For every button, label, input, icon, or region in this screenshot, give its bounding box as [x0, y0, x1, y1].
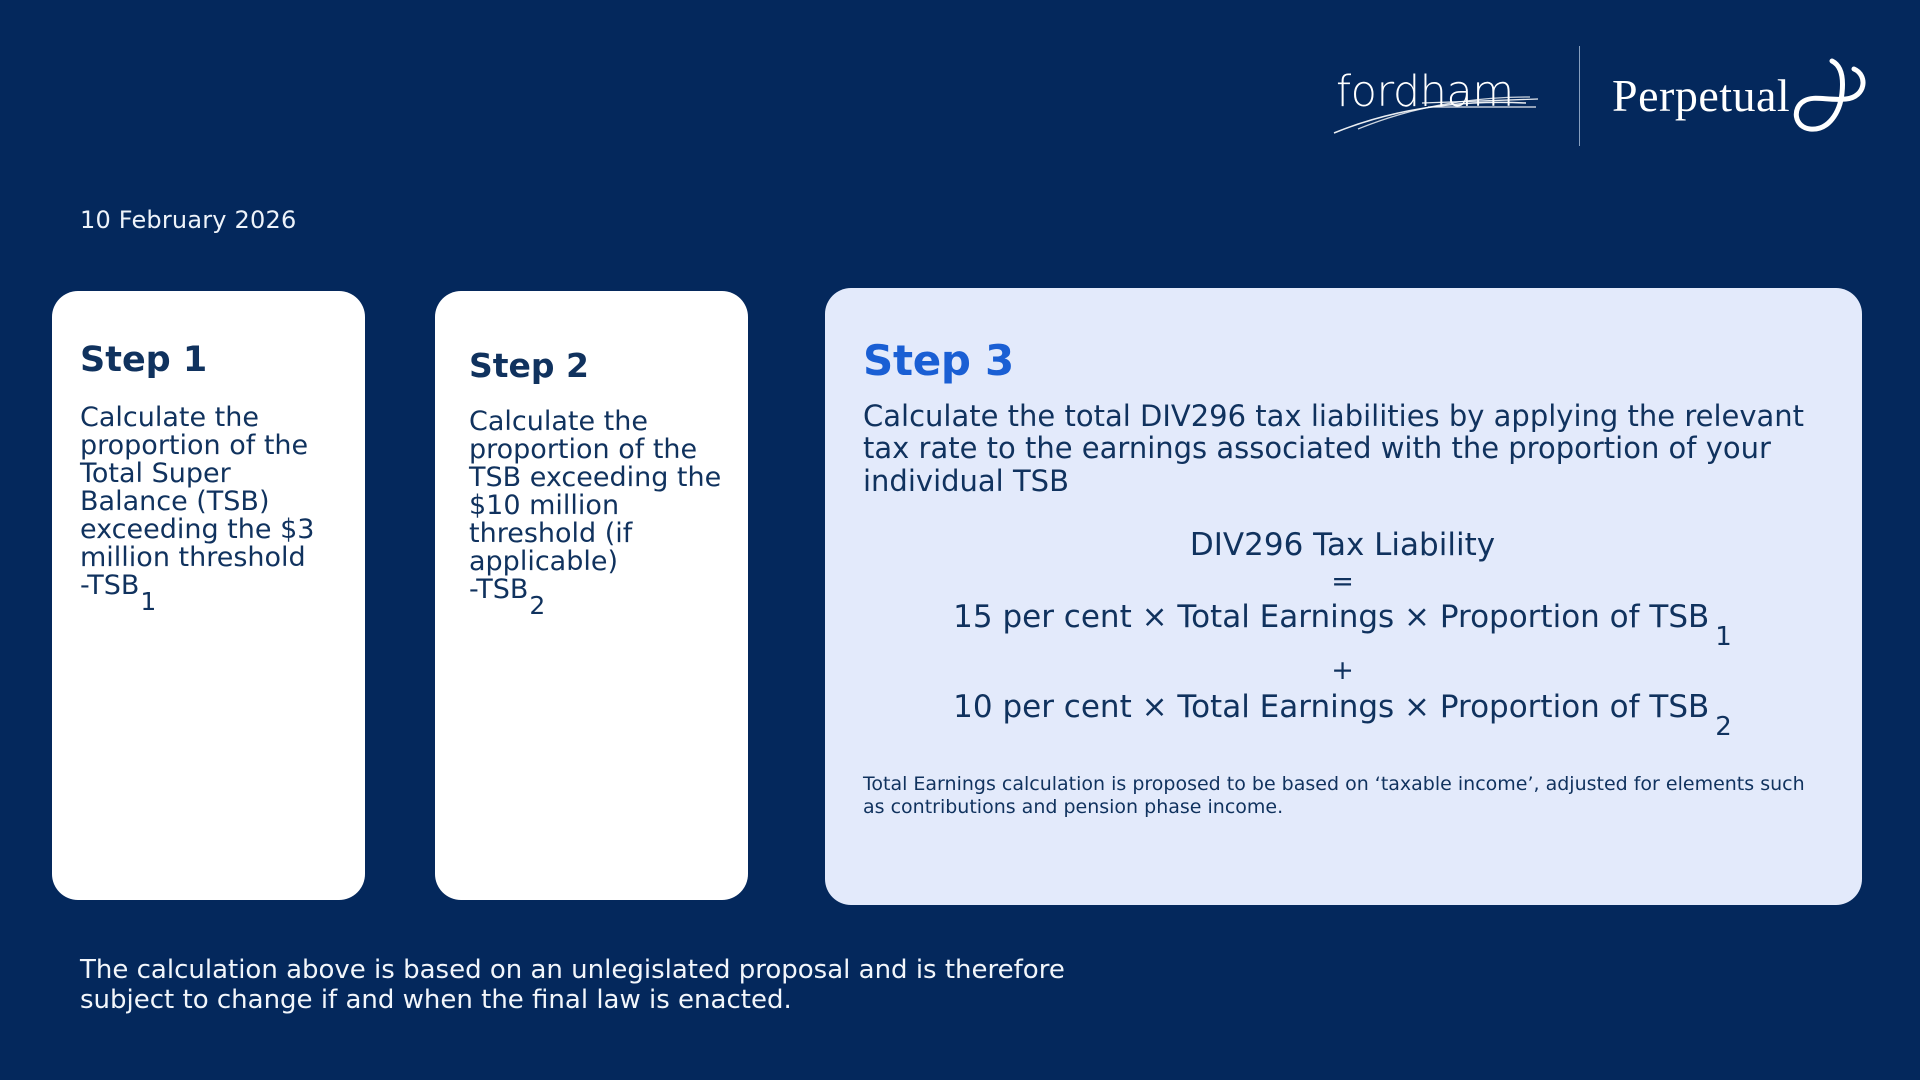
step-3-note: Total Earnings calculation is proposed t…: [863, 773, 1822, 818]
perpetual-logo: Perpetual: [1612, 41, 1868, 151]
formula-term-1: 15 per cent × Total Earnings × Proportio…: [863, 598, 1822, 654]
step-1-title: Step 1: [80, 343, 339, 378]
step-2-tsb-label: -TSB: [469, 574, 528, 605]
step-2-title: Step 2: [469, 349, 730, 382]
div296-formula: DIV296 Tax Liability = 15 per cent × Tot…: [863, 527, 1822, 743]
formula-equals: =: [863, 565, 1822, 599]
step-1-tsb: -TSB1: [80, 572, 339, 615]
step-3-card: Step 3 Calculate the total DIV296 tax li…: [825, 288, 1862, 905]
step-2-tsb: -TSB2: [469, 576, 730, 619]
formula-term-2: 10 per cent × Total Earnings × Proportio…: [863, 688, 1822, 744]
step-2-card: Step 2 Calculate the proportion of the T…: [435, 291, 748, 900]
step-2-tsb-subscript: 2: [529, 593, 545, 619]
perpetual-loop-icon: [1790, 41, 1868, 151]
step-2-body: Calculate the proportion of the TSB exce…: [469, 408, 730, 576]
slide-root: fordham Perpetual 10 February 2026 Step …: [0, 0, 1920, 1080]
logo-divider: [1579, 46, 1580, 146]
step-1-tsb-label: -TSB: [80, 570, 139, 601]
fordham-swoosh-icon: [1330, 41, 1545, 151]
formula-heading: DIV296 Tax Liability: [863, 527, 1822, 564]
slide-disclaimer: The calculation above is based on an unl…: [80, 955, 1080, 1016]
perpetual-wordmark: Perpetual: [1612, 73, 1790, 119]
fordham-logo: fordham: [1330, 41, 1545, 151]
step-1-tsb-subscript: 1: [140, 589, 156, 615]
step-3-body: Calculate the total DIV296 tax liabiliti…: [863, 400, 1813, 497]
formula-term-1-text: 15 per cent × Total Earnings × Proportio…: [953, 599, 1709, 635]
formula-plus: +: [863, 654, 1822, 688]
formula-term-1-subscript: 1: [1715, 621, 1732, 654]
step-1-body: Calculate the proportion of the Total Su…: [80, 404, 339, 572]
brand-logo: fordham Perpetual: [1330, 38, 1870, 153]
slide-date: 10 February 2026: [80, 206, 296, 234]
formula-term-2-subscript: 2: [1715, 711, 1732, 744]
step-1-card: Step 1 Calculate the proportion of the T…: [52, 291, 365, 900]
step-3-title: Step 3: [863, 340, 1822, 382]
formula-term-2-text: 10 per cent × Total Earnings × Proportio…: [953, 689, 1709, 725]
